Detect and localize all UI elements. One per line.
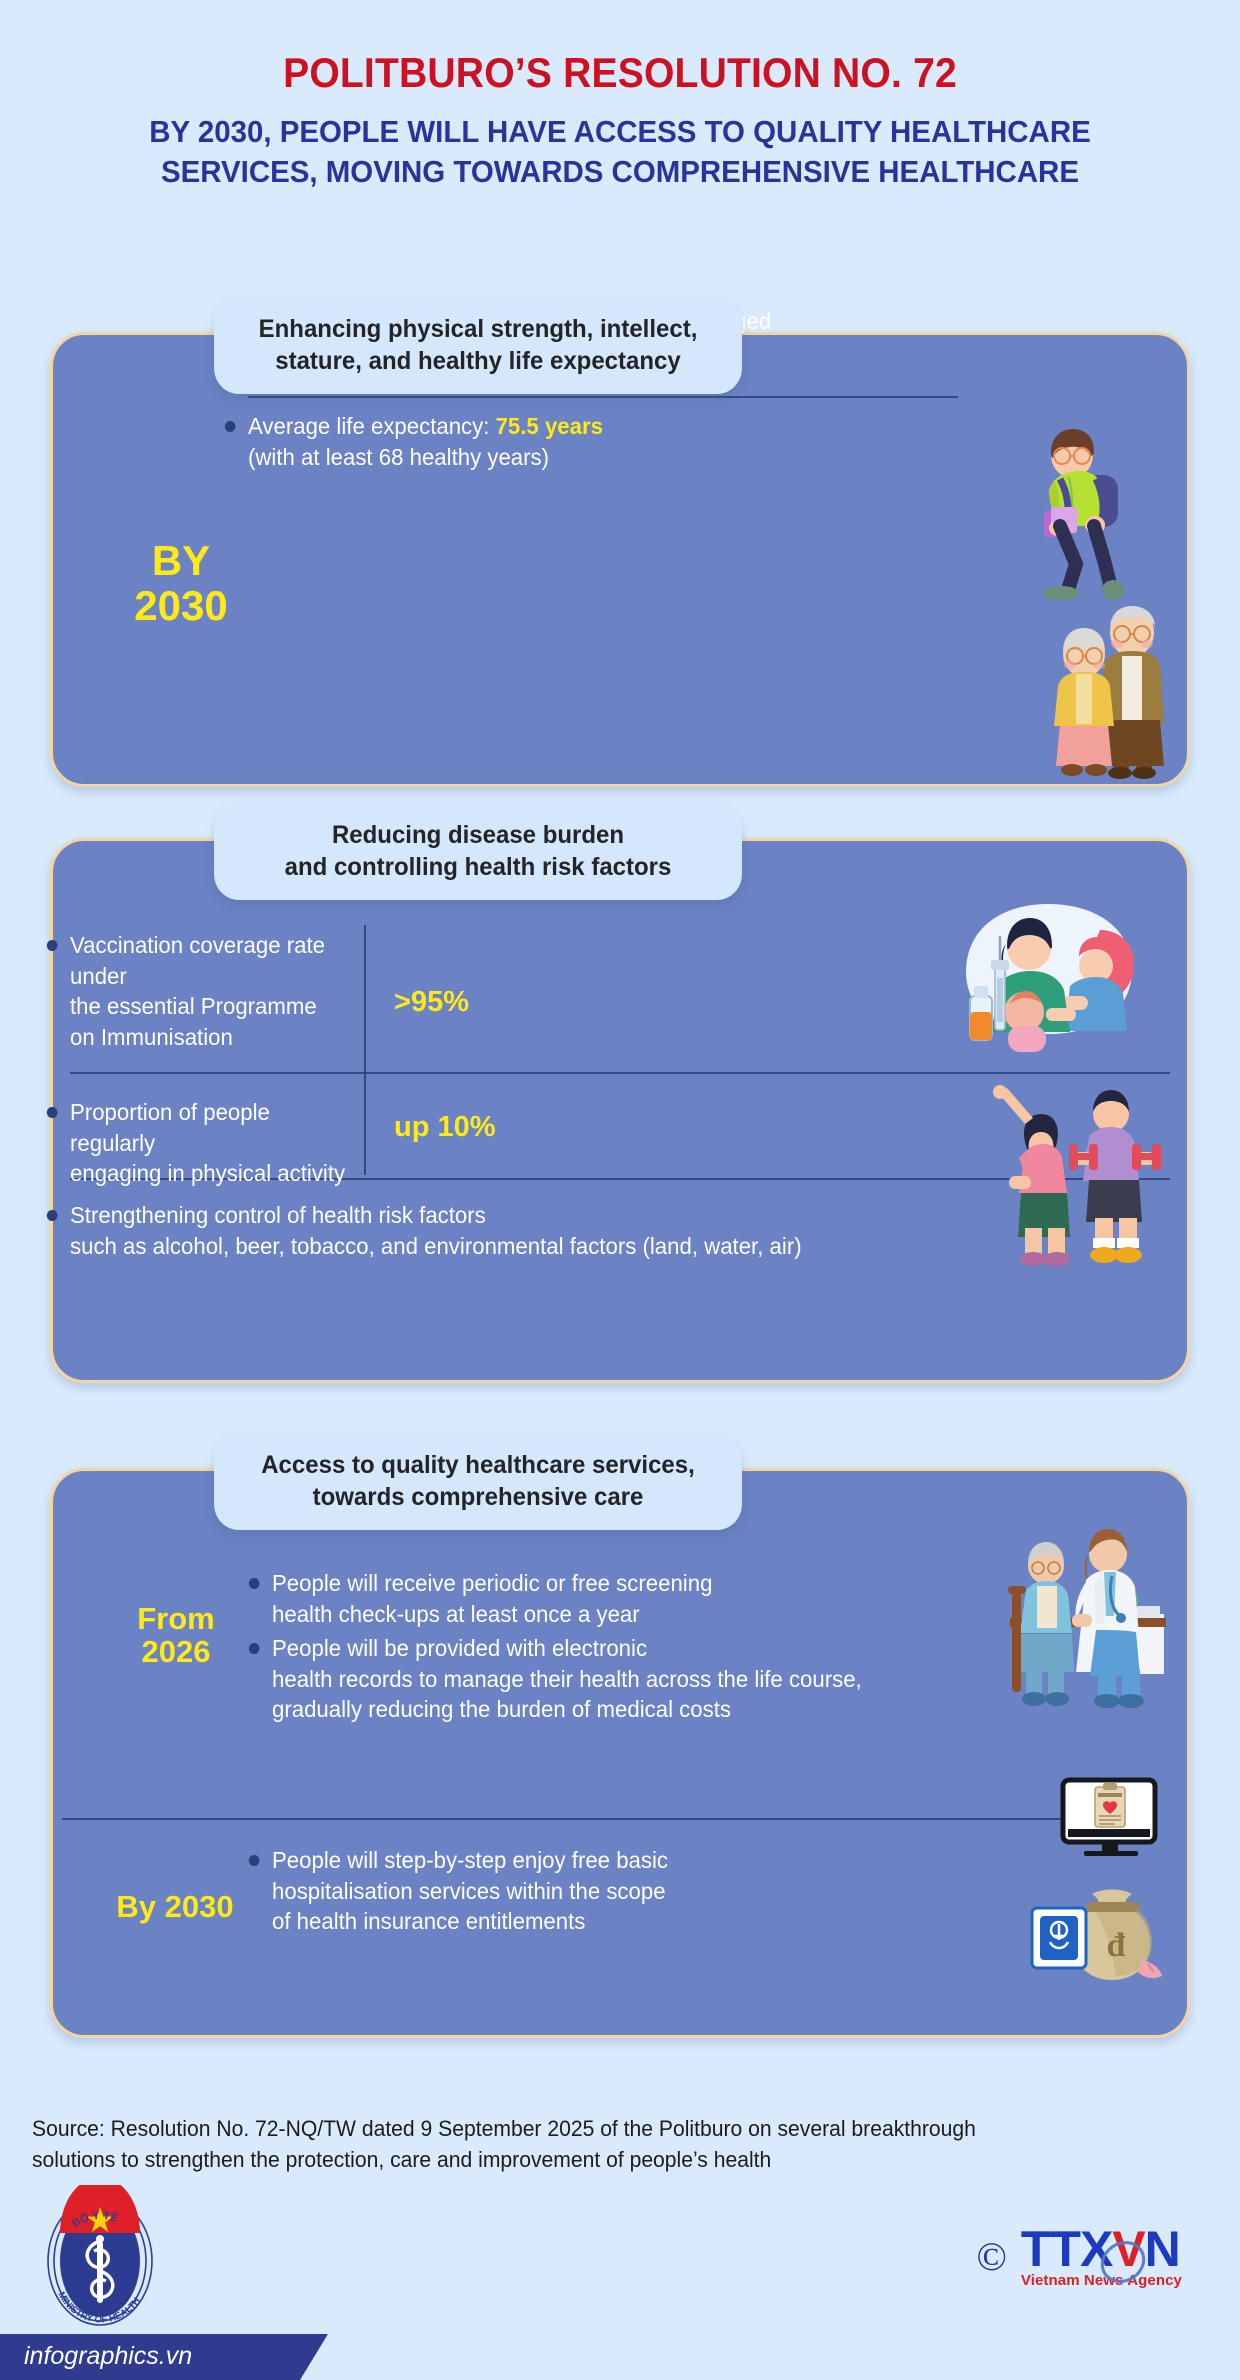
panel-2-title-line-2: and controlling health risk factors bbox=[285, 851, 672, 884]
bullet-dot-icon bbox=[47, 1210, 58, 1221]
panel-1-side-label: BY 2030 bbox=[96, 538, 266, 629]
panel-2-row-2-label-line-1: Proportion of people regularly bbox=[70, 1097, 350, 1158]
panel-3-row-1-bullet-2-line-2: health records to manage their health ac… bbox=[272, 1664, 1092, 1695]
panel-3-row-2-bullet-1-line-3: of health insurance entitlements bbox=[272, 1906, 1005, 1937]
page-subtitle-line-1: BY 2030, PEOPLE WILL HAVE ACCESS TO QUAL… bbox=[54, 112, 1186, 152]
source-line-1: Source: Resolution No. 72-NQ/TW dated 9 … bbox=[32, 2113, 1165, 2144]
svg-text:đ: đ bbox=[1107, 1927, 1126, 1964]
ttxvn-tt-letters: TTX bbox=[1021, 2221, 1112, 2277]
panel-2-row-2-label-line-2: engaging in physical activity bbox=[70, 1158, 350, 1189]
panel-1-title-line-1: Enhancing physical strength, intellect, bbox=[259, 313, 698, 346]
panel-3-row-1-bullet-1: People will receive periodic or free scr… bbox=[272, 1568, 1005, 1629]
ttxvn-n-letter: N bbox=[1145, 2221, 1180, 2277]
ministry-of-health-logo: BỘ Y TẾ MINISTRY OF HEALTH bbox=[38, 2185, 162, 2335]
panel-1-side-label-line-1: BY bbox=[96, 538, 266, 583]
panel-2-row-3-label-line-2: such as alcohol, beer, tobacco, and envi… bbox=[70, 1231, 1112, 1262]
panel-2-row-1-label-line-3: on Immunisation bbox=[70, 1022, 350, 1053]
panel-3-row-1-bullet-1-line-1: People will receive periodic or free scr… bbox=[272, 1568, 1005, 1599]
panel-1-title-card: Enhancing physical strength, intellect, … bbox=[214, 296, 742, 394]
panel-3-row-1-side-label: From 2026 bbox=[86, 1602, 266, 1669]
insurance-card-money-bag-icon: đ bbox=[1030, 1880, 1180, 1990]
panel-3-row-1-bullet-2: People will be provided with electronic … bbox=[272, 1633, 1092, 1725]
panel-2-row-1-label-line-1: Vaccination coverage rate under bbox=[70, 930, 350, 991]
panel-3-row-2-side-label-line-1: By 2030 bbox=[70, 1890, 280, 1923]
panel-2-row-1-label-line-2: the essential Programme bbox=[70, 991, 350, 1022]
panel-2-row-3-label-line-1: Strengthening control of health risk fac… bbox=[70, 1200, 1112, 1231]
panel-2-row-divider-1 bbox=[70, 1072, 1170, 1074]
bullet-dot-icon bbox=[47, 1107, 58, 1118]
page-subtitle-line-2: SERVICES, MOVING TOWARDS COMPREHENSIVE H… bbox=[54, 152, 1186, 192]
bottom-bar-tail bbox=[300, 2334, 328, 2380]
panel-3-title-card: Access to quality healthcare services, t… bbox=[214, 1432, 742, 1530]
exercise-people-icon bbox=[985, 1078, 1170, 1268]
bullet-dot-icon bbox=[249, 1643, 260, 1654]
panel-3-title-line-1: Access to quality healthcare services, bbox=[261, 1449, 695, 1482]
panel-3-row-divider bbox=[62, 1818, 1132, 1820]
panel-1-item-2-value: 75.5 years bbox=[496, 413, 603, 439]
panel-3-row-1-side-label-line-1: From bbox=[86, 1602, 266, 1635]
panel-2-column-divider bbox=[364, 925, 366, 1175]
copyright-icon: © bbox=[976, 2237, 1006, 2277]
panel-3-row-1-side-label-line-2: 2026 bbox=[86, 1635, 266, 1668]
health-record-monitor-icon bbox=[1060, 1777, 1166, 1865]
panel-1-side-label-line-2: 2030 bbox=[96, 583, 266, 628]
bullet-dot-icon bbox=[47, 940, 58, 951]
panel-1-item-2-line-2: (with at least 68 healthy years) bbox=[248, 442, 967, 473]
page-subtitle: BY 2030, PEOPLE WILL HAVE ACCESS TO QUAL… bbox=[31, 112, 1209, 193]
panel-3-row-2-bullet-1-line-2: hospitalisation services within the scop… bbox=[272, 1876, 1005, 1907]
bullet-dot-icon bbox=[225, 421, 236, 432]
panel-3-row-1-bullet-2-line-3: gradually reducing the burden of medical… bbox=[272, 1694, 1092, 1725]
panel-3-title-line-2: towards comprehensive care bbox=[313, 1481, 644, 1514]
panel-3-row-2-bullet-1: People will step-by-step enjoy free basi… bbox=[272, 1845, 1005, 1937]
page-header: POLITBURO’S RESOLUTION NO. 72 BY 2030, P… bbox=[0, 48, 1240, 192]
panel-2-row-2-label: Proportion of people regularly engaging … bbox=[70, 1097, 350, 1189]
panel-3-row-1-bullet-2-line-1: People will be provided with electronic bbox=[272, 1633, 1092, 1664]
elderly-couple-icon bbox=[1040, 600, 1175, 780]
panel-3-row-2-side-label: By 2030 bbox=[70, 1890, 280, 1923]
site-tag: infographics.vn bbox=[24, 2342, 192, 2371]
panel-2-row1-metric: >95% bbox=[394, 986, 469, 1019]
panel-1-bullet-item-2: Average life expectancy: 75.5 years (wit… bbox=[248, 411, 967, 472]
page-title: POLITBURO’S RESOLUTION NO. 72 bbox=[43, 48, 1196, 98]
panel-3-row-1-bullet-1-line-2: health check-ups at least once a year bbox=[272, 1599, 1005, 1630]
panel-1-item-2-prefix: Average life expectancy: bbox=[248, 413, 496, 439]
bullet-dot-icon bbox=[249, 1578, 260, 1589]
student-walking-icon bbox=[1010, 425, 1130, 600]
panel-2-row-1-label: Vaccination coverage rate under the esse… bbox=[70, 930, 350, 1052]
source-line-2: solutions to strengthen the protection, … bbox=[32, 2144, 1165, 2175]
panel-3-row-2-bullet-1-line-1: People will step-by-step enjoy free basi… bbox=[272, 1845, 1005, 1876]
panel-1-item-2-line-1: Average life expectancy: 75.5 years bbox=[248, 411, 967, 442]
ttxvn-wordmark: TTXVN bbox=[1021, 2226, 1182, 2274]
panel-2-title-card: Reducing disease burden and controlling … bbox=[214, 802, 742, 900]
infographic-page: POLITBURO’S RESOLUTION NO. 72 BY 2030, P… bbox=[0, 0, 1240, 2380]
source-note: Source: Resolution No. 72-NQ/TW dated 9 … bbox=[32, 2113, 1165, 2175]
vaccination-mother-child-icon bbox=[950, 900, 1170, 1060]
doctor-patient-checkup-icon bbox=[990, 1510, 1170, 1710]
bullet-dot-icon bbox=[249, 1855, 260, 1866]
panel-1-divider bbox=[248, 396, 958, 398]
panel-2-title-line-1: Reducing disease burden bbox=[332, 819, 624, 852]
panel-1-title-line-2: stature, and healthy life expectancy bbox=[275, 345, 680, 378]
panel-2-row2-metric: up 10% bbox=[394, 1111, 496, 1144]
ttxvn-logo: © TTXVN Vietnam News Agency bbox=[976, 2226, 1182, 2289]
panel-2-row-3-label: Strengthening control of health risk fac… bbox=[70, 1200, 1112, 1261]
